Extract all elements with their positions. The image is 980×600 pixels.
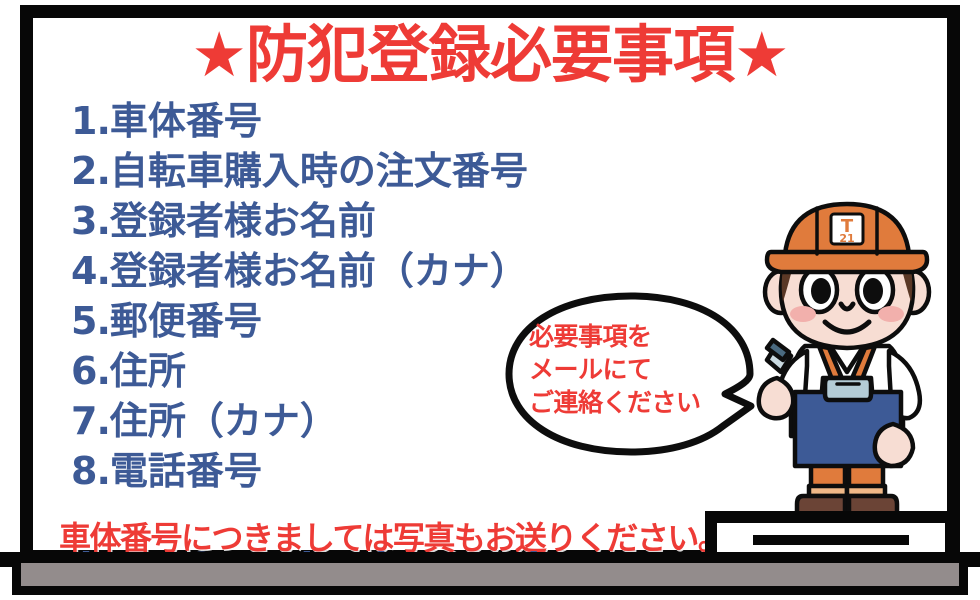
list-item-label: 自転車購入時の注文番号	[110, 149, 528, 193]
mascot-pupil-right	[863, 278, 883, 304]
speech-bubble-text: 必要事項を メールにて ご連絡ください	[529, 320, 737, 419]
mascot-svg: T 21	[733, 196, 980, 546]
whiteboard-frame: ★防犯登録必要事項★ 1.車体番号 2.自転車購入時の注文番号 3.登録者様お名…	[20, 5, 960, 563]
laptop-base	[12, 563, 968, 595]
list-item-number: 7.	[71, 399, 110, 443]
list-item-label: 電話番号	[110, 449, 262, 493]
whiteboard-surface: ★防犯登録必要事項★ 1.車体番号 2.自転車購入時の注文番号 3.登録者様お名…	[33, 18, 947, 550]
list-item: 1.車体番号	[71, 96, 711, 146]
mascot-worker-illustration: T 21	[733, 196, 980, 546]
mascot-hand-left	[759, 378, 793, 418]
list-item: 2.自転車購入時の注文番号	[71, 146, 711, 196]
list-item-label: 登録者様お名前	[110, 199, 376, 243]
speech-line-1: 必要事項を	[529, 320, 737, 353]
list-item: 3.登録者様お名前	[71, 196, 711, 246]
list-item-label: 郵便番号	[110, 299, 262, 343]
pedestal-slot	[753, 535, 909, 545]
speech-line-3: ご連絡ください	[529, 386, 737, 419]
list-item-number: 1.	[71, 99, 110, 143]
mascot-clipboard-clip	[825, 378, 871, 400]
speech-line-2: メールにて	[529, 353, 737, 386]
list-item-label: 車体番号	[110, 99, 262, 143]
mascot-blush-left	[790, 306, 816, 322]
mascot-helmet-brim	[767, 252, 927, 272]
list-item-label: 住所（カナ）	[110, 399, 338, 443]
mascot-blush-right	[878, 306, 904, 322]
list-item-label: 登録者様お名前（カナ）	[110, 249, 528, 293]
helmet-logo-number: 21	[839, 232, 854, 245]
list-item-number: 5.	[71, 299, 110, 343]
speech-bubble: 必要事項を メールにて ご連絡ください	[501, 290, 761, 458]
mascot-pupil-left	[811, 278, 831, 304]
list-item-number: 2.	[71, 149, 110, 193]
page-title: ★防犯登録必要事項★	[33, 24, 947, 86]
list-item-number: 4.	[71, 249, 110, 293]
list-item-number: 6.	[71, 349, 110, 393]
list-item: 4.登録者様お名前（カナ）	[71, 246, 711, 296]
list-item-number: 8.	[71, 449, 110, 493]
mascot-hand-right	[875, 424, 913, 466]
list-item-number: 3.	[71, 199, 110, 243]
list-item-label: 住所	[110, 349, 186, 393]
poster-canvas: ★防犯登録必要事項★ 1.車体番号 2.自転車購入時の注文番号 3.登録者様お名…	[0, 0, 980, 600]
